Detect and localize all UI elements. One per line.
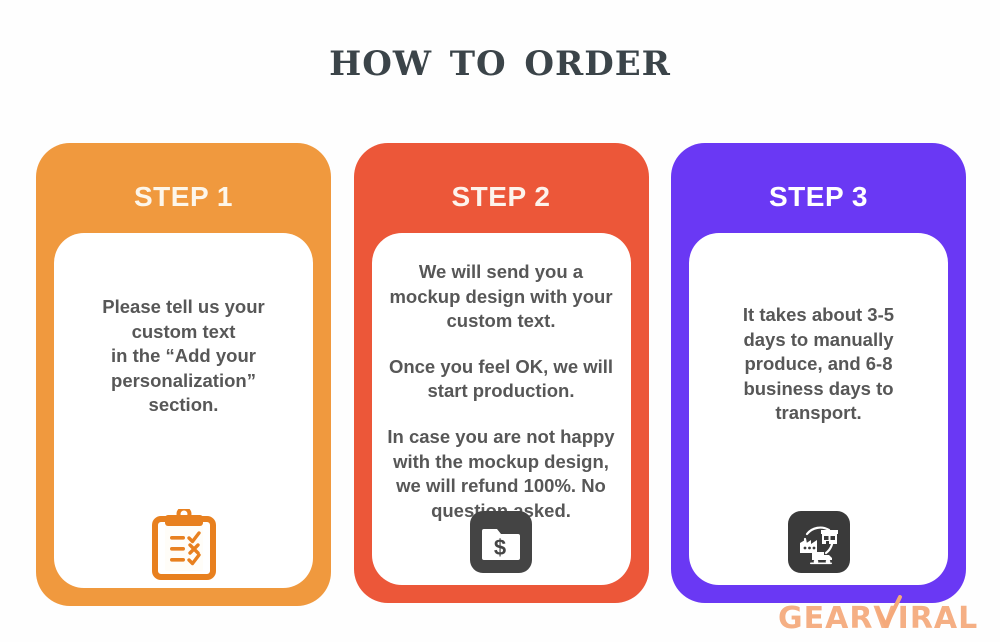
steps-row: STEP 1 Please tell us your custom text i… <box>36 143 966 608</box>
step-2-paragraph-1: We will send you a mockup design with yo… <box>386 260 617 334</box>
step-1-icon-slot <box>54 509 313 581</box>
step-2-paragraph-2: Once you feel OK, we will start producti… <box>386 355 617 404</box>
step-2-icon-slot: $ <box>372 511 631 573</box>
step-2-paragraph-3: In case you are not happy with the mocku… <box>386 425 617 523</box>
clipboard-checklist-icon <box>151 509 217 581</box>
step-3-panel: It takes about 3-5 days to manually prod… <box>689 233 948 585</box>
step-2-panel: We will send you a mockup design with yo… <box>372 233 631 585</box>
step-card-3: STEP 3 It takes about 3-5 days to manual… <box>671 143 966 603</box>
svg-text:$: $ <box>494 535 506 560</box>
folder-dollar-icon: $ <box>470 511 532 573</box>
step-3-icon-slot <box>689 511 948 573</box>
step-1-paragraph: Please tell us your custom text in the “… <box>68 295 299 418</box>
step-3-paragraph: It takes about 3-5 days to manually prod… <box>703 303 934 426</box>
page-title: How to Order <box>0 34 1000 84</box>
step-card-2: STEP 2 We will send you a mockup design … <box>354 143 649 603</box>
step-1-text-wrap: Please tell us your custom text in the “… <box>68 295 299 418</box>
step-card-1: STEP 1 Please tell us your custom text i… <box>36 143 331 606</box>
infographic-canvas: How to Order STEP 1 Please tell us your … <box>0 0 1000 642</box>
step-2-header: STEP 2 <box>452 181 551 213</box>
step-3-text-wrap: It takes about 3-5 days to manually prod… <box>703 303 934 426</box>
step-1-header: STEP 1 <box>134 181 233 213</box>
supply-chain-icon <box>788 511 850 573</box>
step-1-panel: Please tell us your custom text in the “… <box>54 233 313 588</box>
step-2-text-wrap: We will send you a mockup design with yo… <box>386 260 617 523</box>
step-3-header: STEP 3 <box>769 181 868 213</box>
